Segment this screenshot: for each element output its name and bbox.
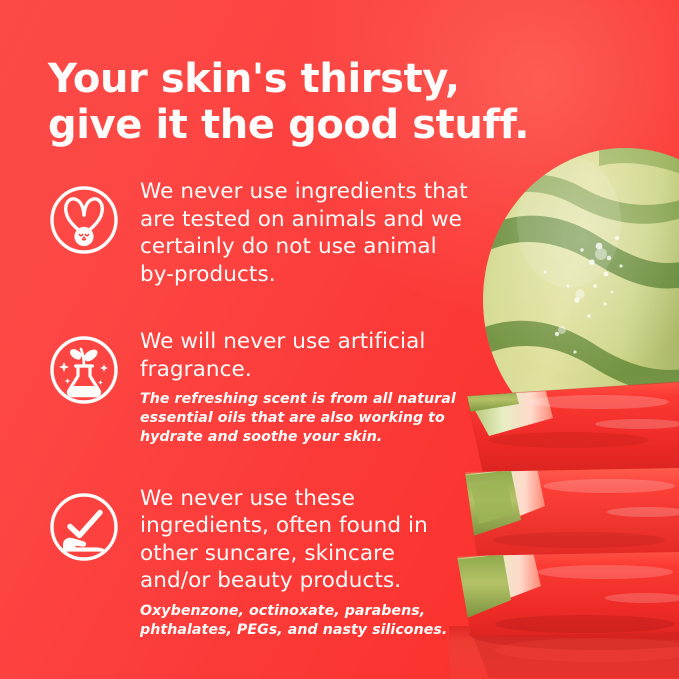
feature-text-no-artificial-fragrance: We will never use artificial fragrance. … [140,328,468,447]
check-hand-icon [48,491,120,563]
feature-main-text: We never use these ingredients, often fo… [140,485,468,595]
bunny-cruelty-free-icon [48,184,120,256]
feature-main-text: We never use ingredients that are tested… [140,178,468,288]
feature-item-no-artificial-fragrance: We will never use artificial fragrance. … [48,328,468,447]
feature-item-no-nasty-ingredients: We never use these ingredients, often fo… [48,485,468,640]
feature-item-cruelty-free: We never use ingredients that are tested… [48,178,468,288]
feature-text-cruelty-free: We never use ingredients that are tested… [140,178,468,288]
feature-list: We never use ingredients that are tested… [48,178,468,640]
flask-natural-fragrance-icon [48,334,120,406]
feature-text-no-nasty-ingredients: We never use these ingredients, often fo… [140,485,468,640]
headline-line-1: Your skin's thirsty, [48,56,588,102]
page-title: Your skin's thirsty, give it the good st… [48,56,588,149]
feature-sub-text: Oxybenzone, octinoxate, parabens, phthal… [140,602,468,640]
marketing-poster: Your skin's thirsty, give it the good st… [0,0,679,679]
feature-main-text: We will never use artificial fragrance. [140,328,468,383]
feature-sub-text: The refreshing scent is from all natural… [140,390,468,447]
headline-line-2: give it the good stuff. [48,102,588,148]
